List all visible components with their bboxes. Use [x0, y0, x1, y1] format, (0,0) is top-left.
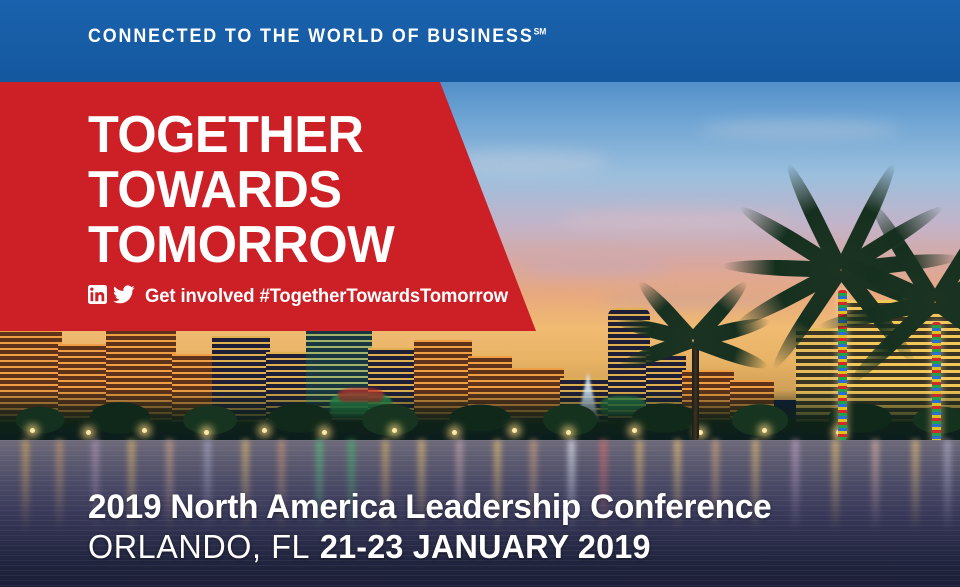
shoreline-lamp [632, 428, 637, 433]
cloud [520, 258, 670, 276]
headline-line-1: TOGETHER [88, 108, 394, 163]
palm-trunk-with-lights [838, 290, 847, 440]
headline-line-3: TOMORROW [88, 218, 394, 273]
linkedin-icon[interactable] [88, 285, 107, 309]
shoreline-lamp [86, 430, 91, 435]
call-to-action-label: Get involved [145, 286, 254, 307]
event-title: 2019 North America Leadership Conference [88, 488, 771, 526]
social-row: Get involved #TogetherTowardsTomorrow [88, 285, 519, 309]
get-involved-text: Get involved #TogetherTowardsTomorrow [145, 286, 508, 308]
palm-trunk-with-lights [932, 322, 941, 444]
brand-tagline-text: CONNECTED TO THE WORLD OF BUSINESS [88, 26, 534, 47]
shoreline-lamp [322, 430, 327, 435]
palm-tree [864, 264, 960, 444]
brand-tagline: CONNECTED TO THE WORLD OF BUSINESSSM [88, 26, 546, 48]
headline-line-2: TOWARDS [88, 163, 394, 218]
hashtag-label: #TogetherTowardsTomorrow [259, 286, 508, 307]
conference-banner: CONNECTED TO THE WORLD OF BUSINESSSM TOG… [0, 0, 960, 587]
event-location-dates: ORLANDO, FL21-23 JANUARY 2019 [88, 528, 771, 565]
shoreline-lamp [204, 430, 209, 435]
shoreline-lamp [452, 430, 457, 435]
shoreline-lamp [262, 428, 267, 433]
cloud [700, 120, 900, 140]
twitter-icon[interactable] [113, 285, 135, 309]
event-city: ORLANDO, FL [88, 528, 310, 565]
shoreline-lamp [566, 430, 571, 435]
tree-silhouette [640, 316, 770, 440]
shoreline-lamp [392, 428, 397, 433]
shoreline-lamp [512, 428, 517, 433]
event-dates: 21-23 JANUARY 2019 [320, 528, 651, 565]
tree-trunk [692, 344, 699, 440]
header-bar: CONNECTED TO THE WORLD OF BUSINESSSM [0, 0, 960, 82]
shoreline-lamp [30, 428, 35, 433]
shoreline-lamp [142, 428, 147, 433]
event-title-block: 2019 North America Leadership Conference… [88, 488, 785, 565]
service-mark: SM [534, 27, 547, 37]
promo-headline: TOGETHER TOWARDS TOMORROW [88, 108, 394, 273]
